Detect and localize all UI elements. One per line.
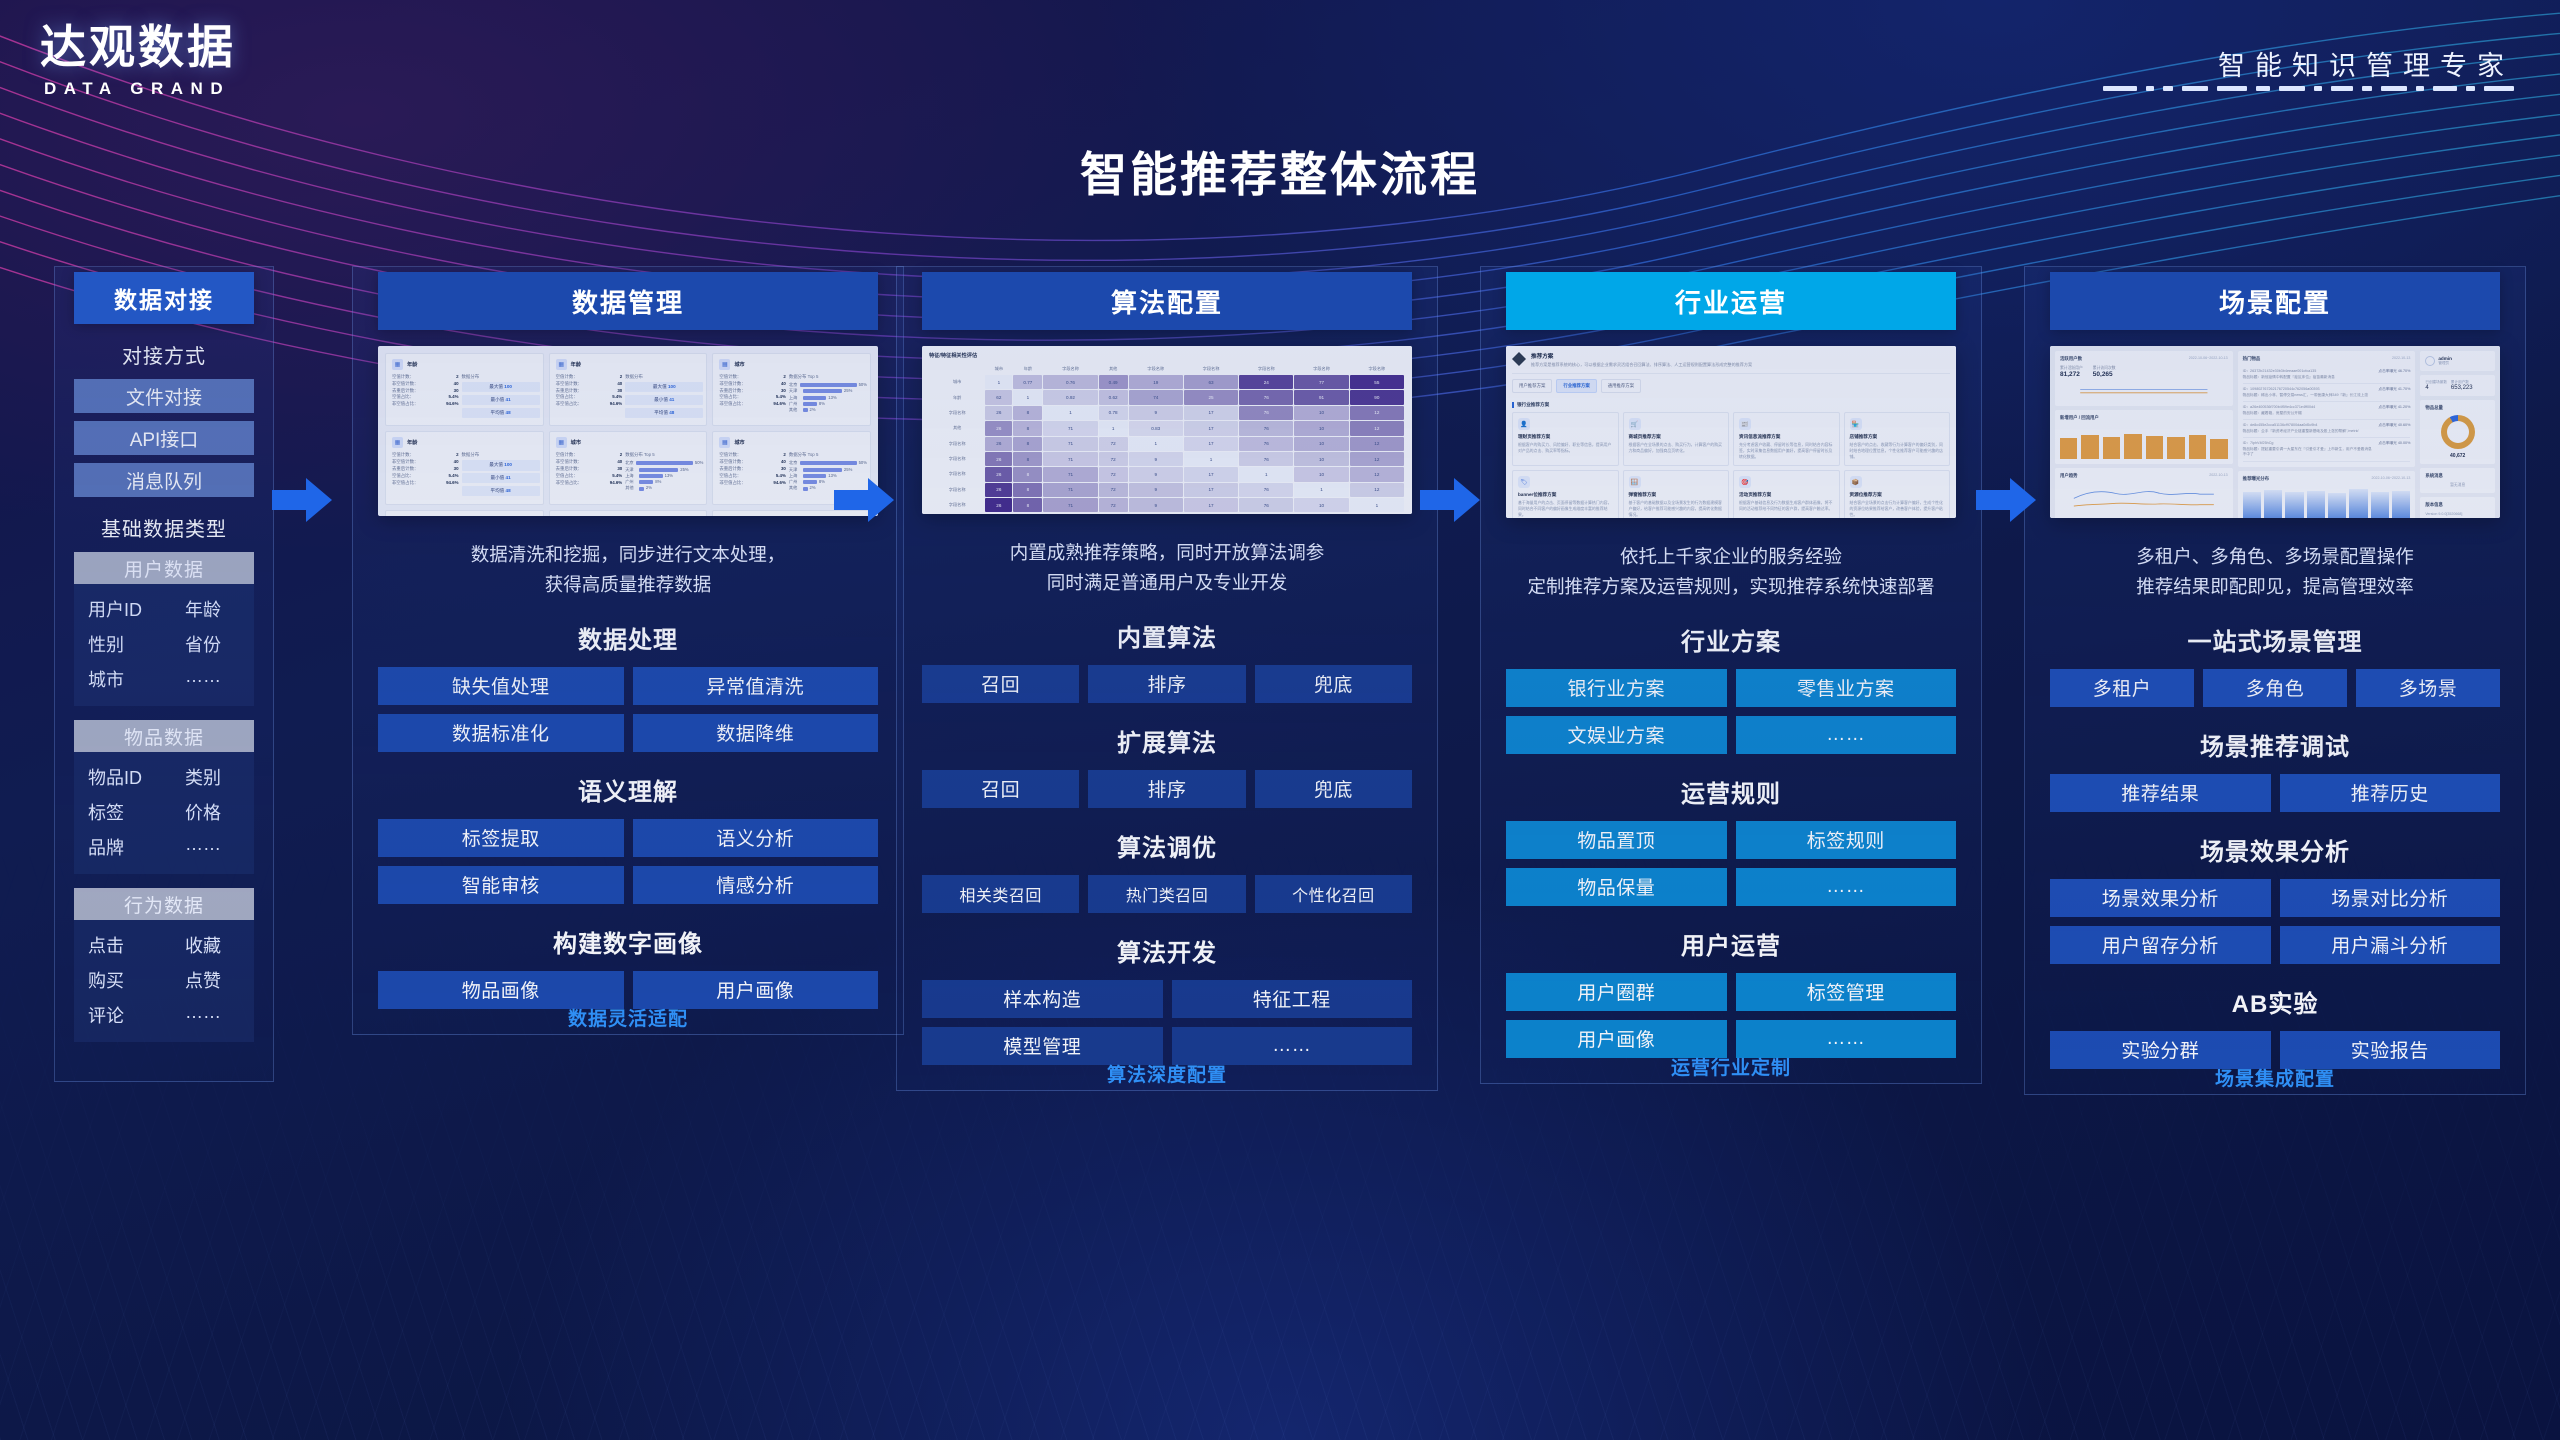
- column-frame: [896, 266, 1438, 1091]
- column-frame: [1480, 266, 1982, 1084]
- column-data-docking: 数据对接 对接方式 文件对接 API接口 消息队列 基础数据类型 用户数据 用户…: [74, 272, 254, 1056]
- column-foot-label: 场景集成配置: [2050, 1064, 2500, 1091]
- column-frame: [352, 266, 904, 1035]
- column-frame: [54, 266, 274, 1082]
- flow-arrow-3: [1420, 478, 1480, 522]
- column-frame: [2024, 266, 2526, 1095]
- brand-name-cn: 达观数据: [40, 22, 236, 73]
- column-foot-label: 算法深度配置: [922, 1060, 1412, 1087]
- brand-tagline: 智能知识管理专家: [2218, 44, 2514, 83]
- column-header-data-docking[interactable]: 数据对接: [74, 272, 254, 324]
- column-foot-label: 数据灵活适配: [378, 1004, 878, 1031]
- column-scene-config: 场景配置 活跃用户数 2022-10-06~2022-10-13 累计活跃用户 …: [2050, 272, 2500, 1069]
- tagline-decoration: [2103, 86, 2514, 91]
- flow-arrow-4: [1976, 478, 2036, 522]
- flow-arrow-2: [834, 478, 894, 522]
- page-title: 智能推荐整体流程: [0, 136, 2560, 205]
- column-header-industry-operations[interactable]: 行业运营: [1506, 272, 1956, 330]
- column-foot-label: 运营行业定制: [1506, 1053, 1956, 1080]
- flow-board: 数据对接 对接方式 文件对接 API接口 消息队列 基础数据类型 用户数据 用户…: [0, 272, 2560, 1402]
- brand-logo: 达观数据 DATA GRAND: [40, 22, 236, 99]
- column-header-algorithm-config[interactable]: 算法配置: [922, 272, 1412, 330]
- brand-name-en: DATA GRAND: [40, 79, 236, 99]
- column-algorithm-config: 算法配置 特征/特征相关性评估 城市年龄字段名称其他字段名称字段名称字段名称字段…: [922, 272, 1412, 1065]
- column-industry-operations: 行业运营 推荐方案 推荐方案是推荐系统的核心，可以根据企业需求灵活组合召回算法、…: [1506, 272, 1956, 1058]
- flow-arrow-1: [272, 478, 332, 522]
- column-header-data-management[interactable]: 数据管理: [378, 272, 878, 330]
- column-data-management: 数据管理 ▦ 年龄 空值计数：2非空值计数：40去重后计数：30空值占比：5.4…: [378, 272, 878, 1009]
- column-header-scene-config[interactable]: 场景配置: [2050, 272, 2500, 330]
